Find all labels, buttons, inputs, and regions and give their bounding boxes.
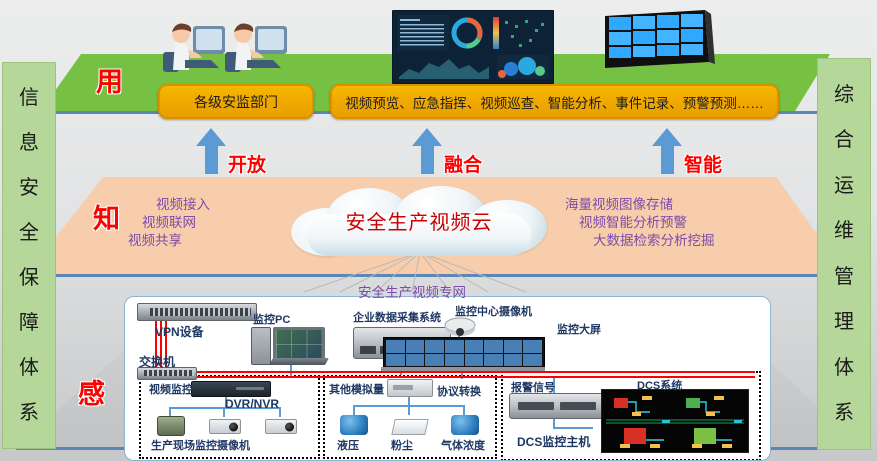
right-side-panel: 综 合 运 维 管 理 体 系 (817, 58, 871, 450)
bullet-camera-icon (265, 419, 297, 434)
label-dcs-system: DCS系统 (637, 377, 682, 393)
label-video-surveillance: 视频监控 (149, 381, 193, 397)
left-panel-char-6: 体 (19, 358, 39, 378)
arrow-up-open (196, 128, 226, 174)
switch-ports (144, 370, 194, 376)
label-field-cameras: 生产现场监控摄像机 (151, 437, 250, 453)
rack-switch-icon (137, 303, 257, 321)
connector-line (279, 407, 281, 417)
video-wall-icon (597, 8, 717, 76)
right-panel-char-3: 维 (834, 221, 854, 241)
keyboard-icon (269, 358, 329, 365)
orange-box-functions[interactable]: 视频预览、应急指挥、视频巡查、智能分析、事件记录、预警预测…… (330, 84, 779, 119)
red-bus-line-top (155, 371, 755, 373)
video-wall-cells (386, 340, 542, 366)
capability-right-1: 视频智能分析预警 (579, 214, 715, 232)
label-hydraulic: 液压 (337, 437, 359, 453)
video-wall-icon (383, 337, 545, 369)
left-panel-char-7: 系 (19, 403, 39, 423)
desktop-pc-icon (251, 327, 271, 365)
capability-right-0: 海量视频图像存储 (565, 196, 715, 214)
converter-slot (393, 385, 413, 390)
label-monitor-big-screen: 监控大屏 (557, 321, 601, 337)
gas-sensor-icon (451, 415, 479, 435)
arrow-label-open: 开放 (228, 150, 266, 177)
right-panel-char-5: 理 (834, 312, 854, 332)
label-monitor-pc: 监控PC (253, 311, 290, 327)
cloud-label: 安全生产视频云 (291, 206, 547, 235)
bullet-camera-icon (209, 419, 241, 434)
capabilities-right: 海量视频图像存储 视频智能分析预警 大数据检索分析挖掘 (565, 196, 715, 249)
label-dust: 粉尘 (391, 437, 413, 453)
layer-label-use: 用 (96, 60, 123, 99)
arrow-shaft (421, 144, 434, 174)
bi-dashboard-icon (392, 10, 554, 84)
label-enterprise-data-collection: 企业数据采集系统 (353, 309, 441, 325)
right-panel-char-1: 合 (834, 130, 854, 150)
cloud-platform: 安全生产视频云 (291, 186, 547, 258)
dcs-scada-graphics (602, 390, 748, 452)
pressure-sensor-icon (340, 415, 368, 435)
connector-line (553, 427, 593, 429)
monitor-screen (276, 330, 322, 360)
capabilities-left: 视频接入 视频联网 视频共享 (128, 196, 210, 249)
layer-label-sense: 感 (78, 372, 105, 411)
orange-box-departments[interactable]: 各级安监部门 (158, 84, 314, 119)
right-panel-char-2: 运 (834, 176, 854, 196)
switch-ports (150, 308, 251, 316)
arrow-up-smart (652, 128, 682, 174)
protocol-converter-icon (387, 379, 433, 397)
label-gas-concentration: 气体浓度 (441, 437, 485, 453)
host-bay (518, 402, 554, 410)
label-dvr-nvr: DVR/NVR (225, 397, 279, 411)
label-protocol-converter: 协议转换 (437, 383, 481, 399)
capability-left-2: 视频共享 (128, 232, 182, 250)
layer-label-know: 知 (93, 197, 120, 236)
operators-at-computers-icon (155, 8, 315, 78)
right-panel-char-7: 系 (834, 403, 854, 423)
architecture-diagram: 信 息 安 全 保 障 体 系 综 合 运 维 管 理 体 系 用 知 感 (0, 0, 877, 461)
capability-left-1: 视频联网 (128, 214, 196, 232)
dvr-bay (236, 387, 264, 390)
left-panel-char-1: 息 (19, 133, 39, 153)
right-panel-char-4: 管 (834, 267, 854, 287)
capability-left-0: 视频接入 (128, 196, 210, 214)
arrow-label-fuse: 融合 (444, 150, 482, 177)
connector-line (463, 405, 465, 415)
label-other-analog: 其他模拟量 (329, 381, 384, 397)
left-panel-char-4: 保 (19, 268, 39, 288)
label-vpn-device: VPN设备 (155, 323, 204, 340)
port (360, 346, 376, 354)
dcs-host-icon (509, 393, 607, 419)
camera-lens (229, 422, 238, 431)
host-bay (560, 402, 596, 410)
sense-layer-network-panel: VPN设备 交换机 监控PC 企业数据采集系统 监控中心摄像机 (124, 296, 771, 461)
label-alarm-signal: 报警信号 (511, 379, 555, 395)
left-side-panel: 信 息 安 全 保 障 体 系 (2, 62, 56, 449)
video-wall-stand (381, 367, 545, 371)
connector-line (353, 405, 355, 415)
camera-lens (285, 422, 294, 431)
left-panel-char-5: 障 (19, 313, 39, 333)
label-switch: 交换机 (139, 353, 175, 370)
dcs-scada-screen-icon (601, 389, 749, 453)
left-panel-char-3: 全 (19, 223, 39, 243)
label-dcs-host: DCS监控主机 (517, 433, 590, 450)
private-network-label: 安全生产视频专网 (358, 281, 466, 301)
right-panel-char-6: 体 (834, 358, 854, 378)
dome-camera-icon (443, 317, 477, 339)
label-control-center-camera: 监控中心摄像机 (455, 303, 532, 319)
capability-right-2: 大数据检索分析挖掘 (593, 232, 715, 250)
connector-line (408, 405, 410, 415)
arrow-label-smart: 智能 (684, 150, 722, 177)
left-panel-char-2: 安 (19, 178, 39, 198)
arrow-shaft (661, 144, 674, 174)
left-panel-char-0: 信 (19, 88, 39, 108)
bullet-camera-icon (157, 416, 185, 436)
right-panel-char-0: 综 (834, 85, 854, 105)
arrow-up-fuse (412, 128, 442, 174)
dust-sensor-icon (391, 419, 428, 435)
dvr-icon (191, 381, 271, 397)
arrow-shaft (205, 144, 218, 174)
